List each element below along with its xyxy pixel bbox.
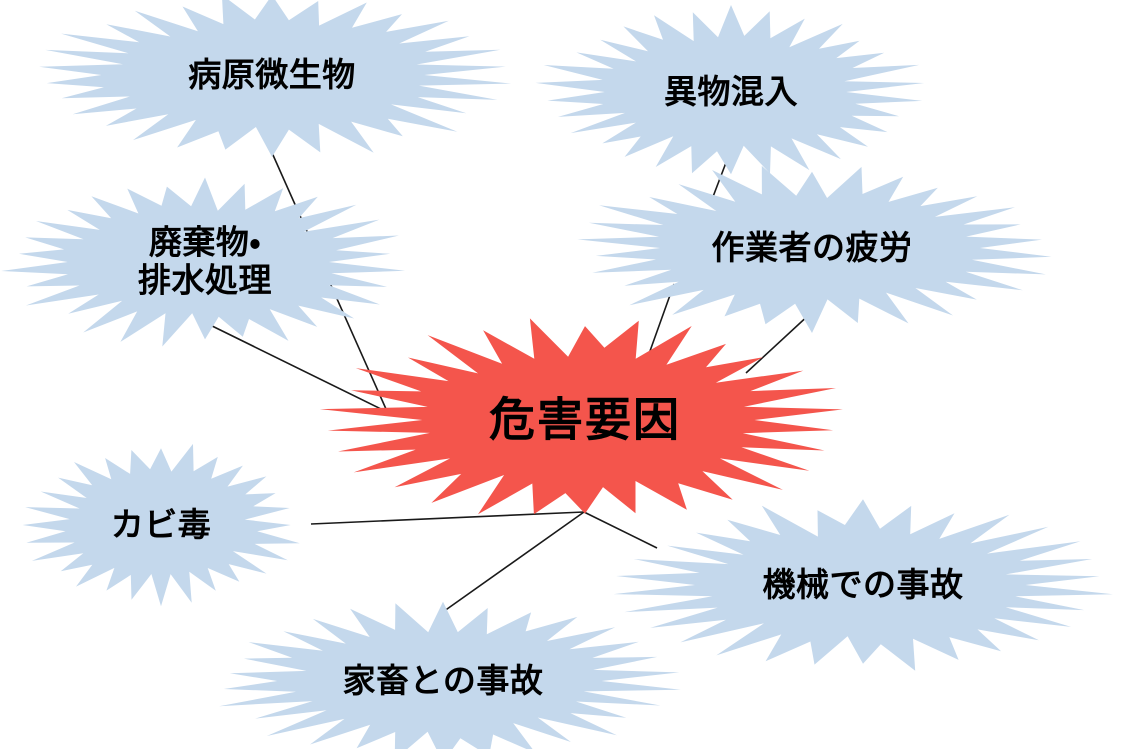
connector-upper-right-to-core	[746, 312, 812, 373]
branch-star-pathogenic-microorganisms[interactable]	[39, 0, 511, 157]
connector-machinery-accident	[584, 512, 657, 548]
branch-star-accident-with-livestock[interactable]	[219, 602, 681, 749]
branch-star-worker-fatigue[interactable]	[577, 166, 1051, 333]
central-star-hazard-factors[interactable]	[320, 318, 843, 514]
diagram-svg	[0, 0, 1138, 749]
connector-mycotoxin	[311, 512, 584, 524]
connector-accident-with-livestock	[440, 512, 584, 614]
branch-star-waste-and-drainage-treatment[interactable]	[1, 178, 405, 347]
diagram-canvas: 病原微生物廃棄物・ 排水処理異物混入作業者の疲労カビ毒家畜との事故機械での事故危…	[0, 0, 1138, 749]
connector-waste-and-drainage-treatment	[204, 322, 383, 410]
branch-star-mycotoxin[interactable]	[23, 444, 300, 606]
branch-star-foreign-matter-contamination[interactable]	[536, 5, 925, 174]
branch-star-machinery-accident[interactable]	[614, 499, 1113, 671]
star-layer	[1, 0, 1113, 749]
